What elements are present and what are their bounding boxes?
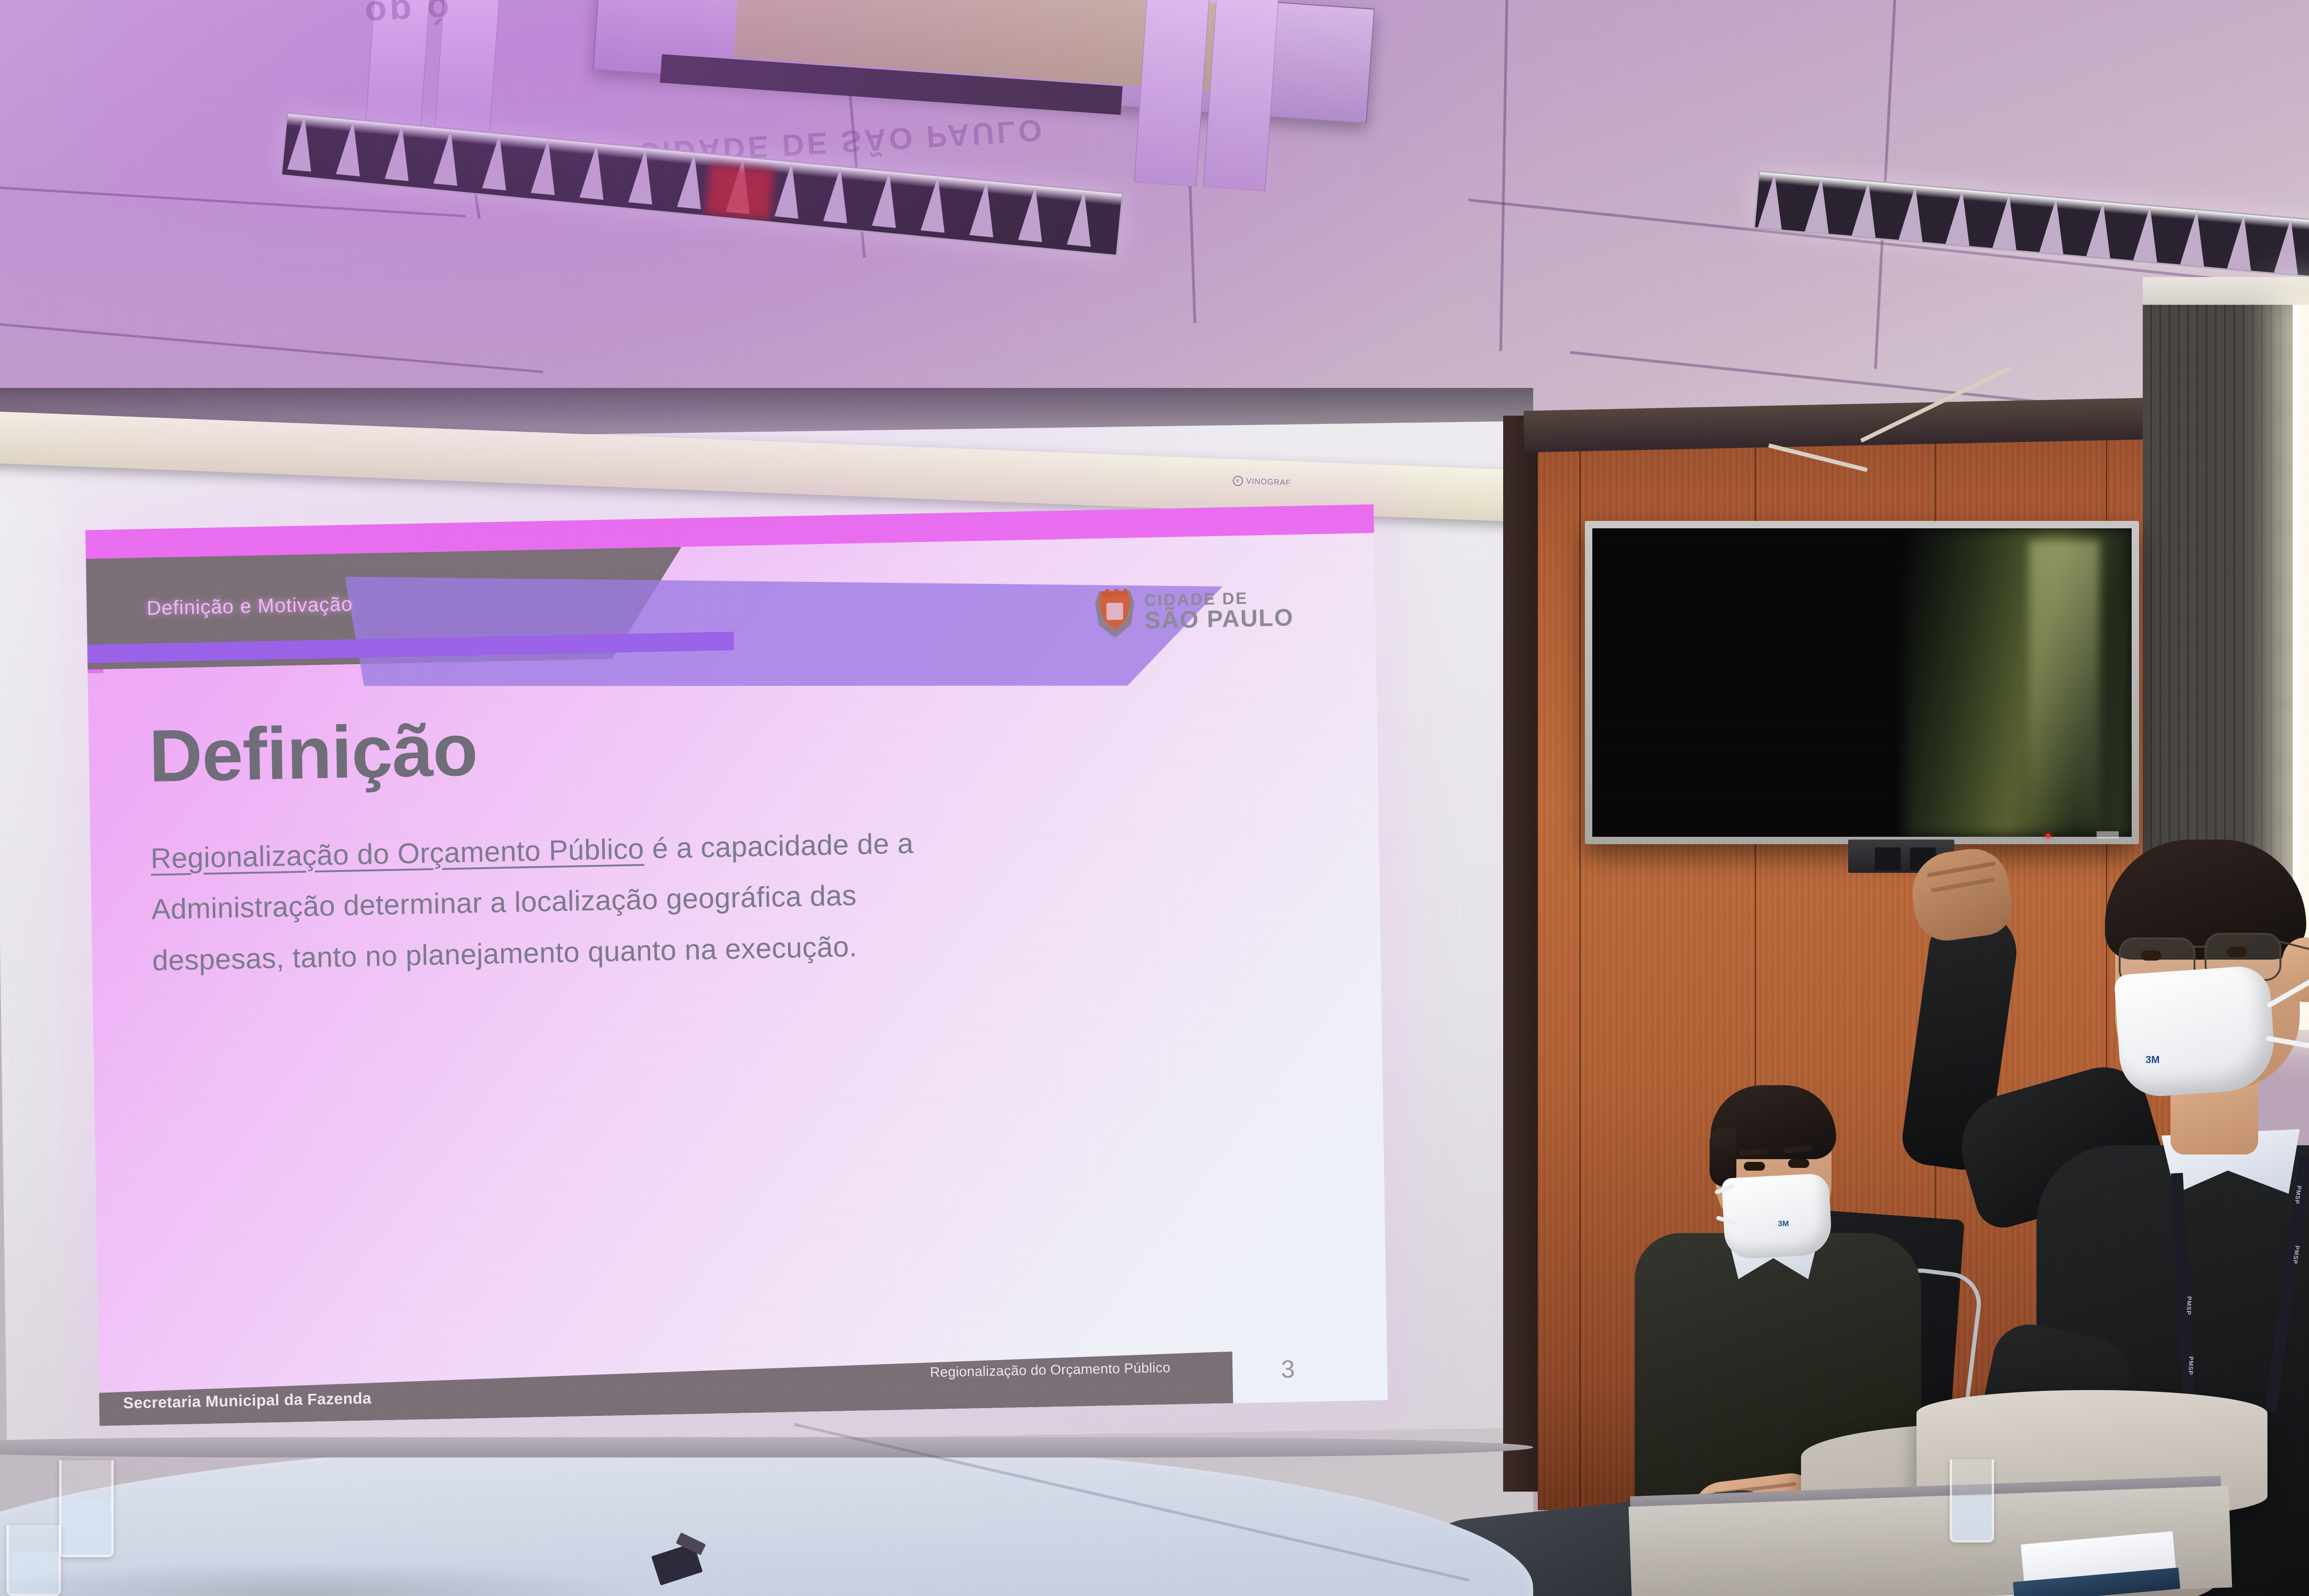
slide-body-text: Regionalização do Orçamento Público é a … [150, 815, 1113, 987]
tv-window-reflection [2029, 541, 2099, 825]
lanyard-text: PMSP [2185, 1296, 2193, 1315]
slide-page-number: 3 [1281, 1355, 1295, 1384]
slide-body-line-rest: é a capacidade de a [644, 828, 914, 865]
roller-brand-label: V VINOGRAF [1233, 476, 1291, 488]
mask-brand-label: 3M [1778, 1219, 1789, 1228]
slide-header-violet-band [345, 559, 1224, 701]
slide-body-underlined-term: Regionalização do Orçamento Público [151, 833, 644, 875]
attendee-eye [1744, 1162, 1765, 1171]
water-glass-right [1950, 1459, 1994, 1542]
conference-table-edge [0, 1437, 1533, 1457]
slide-canvas: Definição e Motivação CIDADE DE SÃO PAUL… [85, 504, 1388, 1426]
logo-line-2: SÃO PAULO [1144, 606, 1294, 633]
projected-ghost-text: op ò [364, 0, 453, 35]
mask-brand-label: 3M [2146, 1054, 2160, 1066]
table-shadow [0, 1561, 647, 1596]
presenter-glasses-bridge [2193, 946, 2208, 948]
presenter-eye [2227, 947, 2247, 957]
presenter-face-mask [2114, 965, 2277, 1099]
projected-slide: Definição e Motivação CIDADE DE SÃO PAUL… [85, 504, 1388, 1426]
presenter-eye [2141, 950, 2161, 961]
conference-room-scene: CIDADE DE SÃO PAULO op ò V VINOGRAF [0, 0, 2309, 1596]
sao-paulo-coat-of-arms-icon [1093, 587, 1136, 638]
lanyard-text: PMSP [2187, 1356, 2194, 1375]
water-glass-left-1 [59, 1460, 114, 1557]
roller-badge-icon: V [1233, 476, 1243, 486]
slide-kicker: Definição e Motivação [146, 593, 353, 620]
roller-brand-text: VINOGRAF [1246, 477, 1291, 488]
sao-paulo-logo: CIDADE DE SÃO PAULO [1093, 585, 1294, 639]
wood-panel-seam [1579, 429, 1581, 1510]
attendee-eye [1788, 1159, 1809, 1168]
slide-title: Definição [148, 707, 478, 798]
presenter-raised-fist [1907, 844, 2015, 944]
wall-corner-shadow [1503, 416, 1542, 1492]
attendee-face-mask [1722, 1173, 1833, 1260]
